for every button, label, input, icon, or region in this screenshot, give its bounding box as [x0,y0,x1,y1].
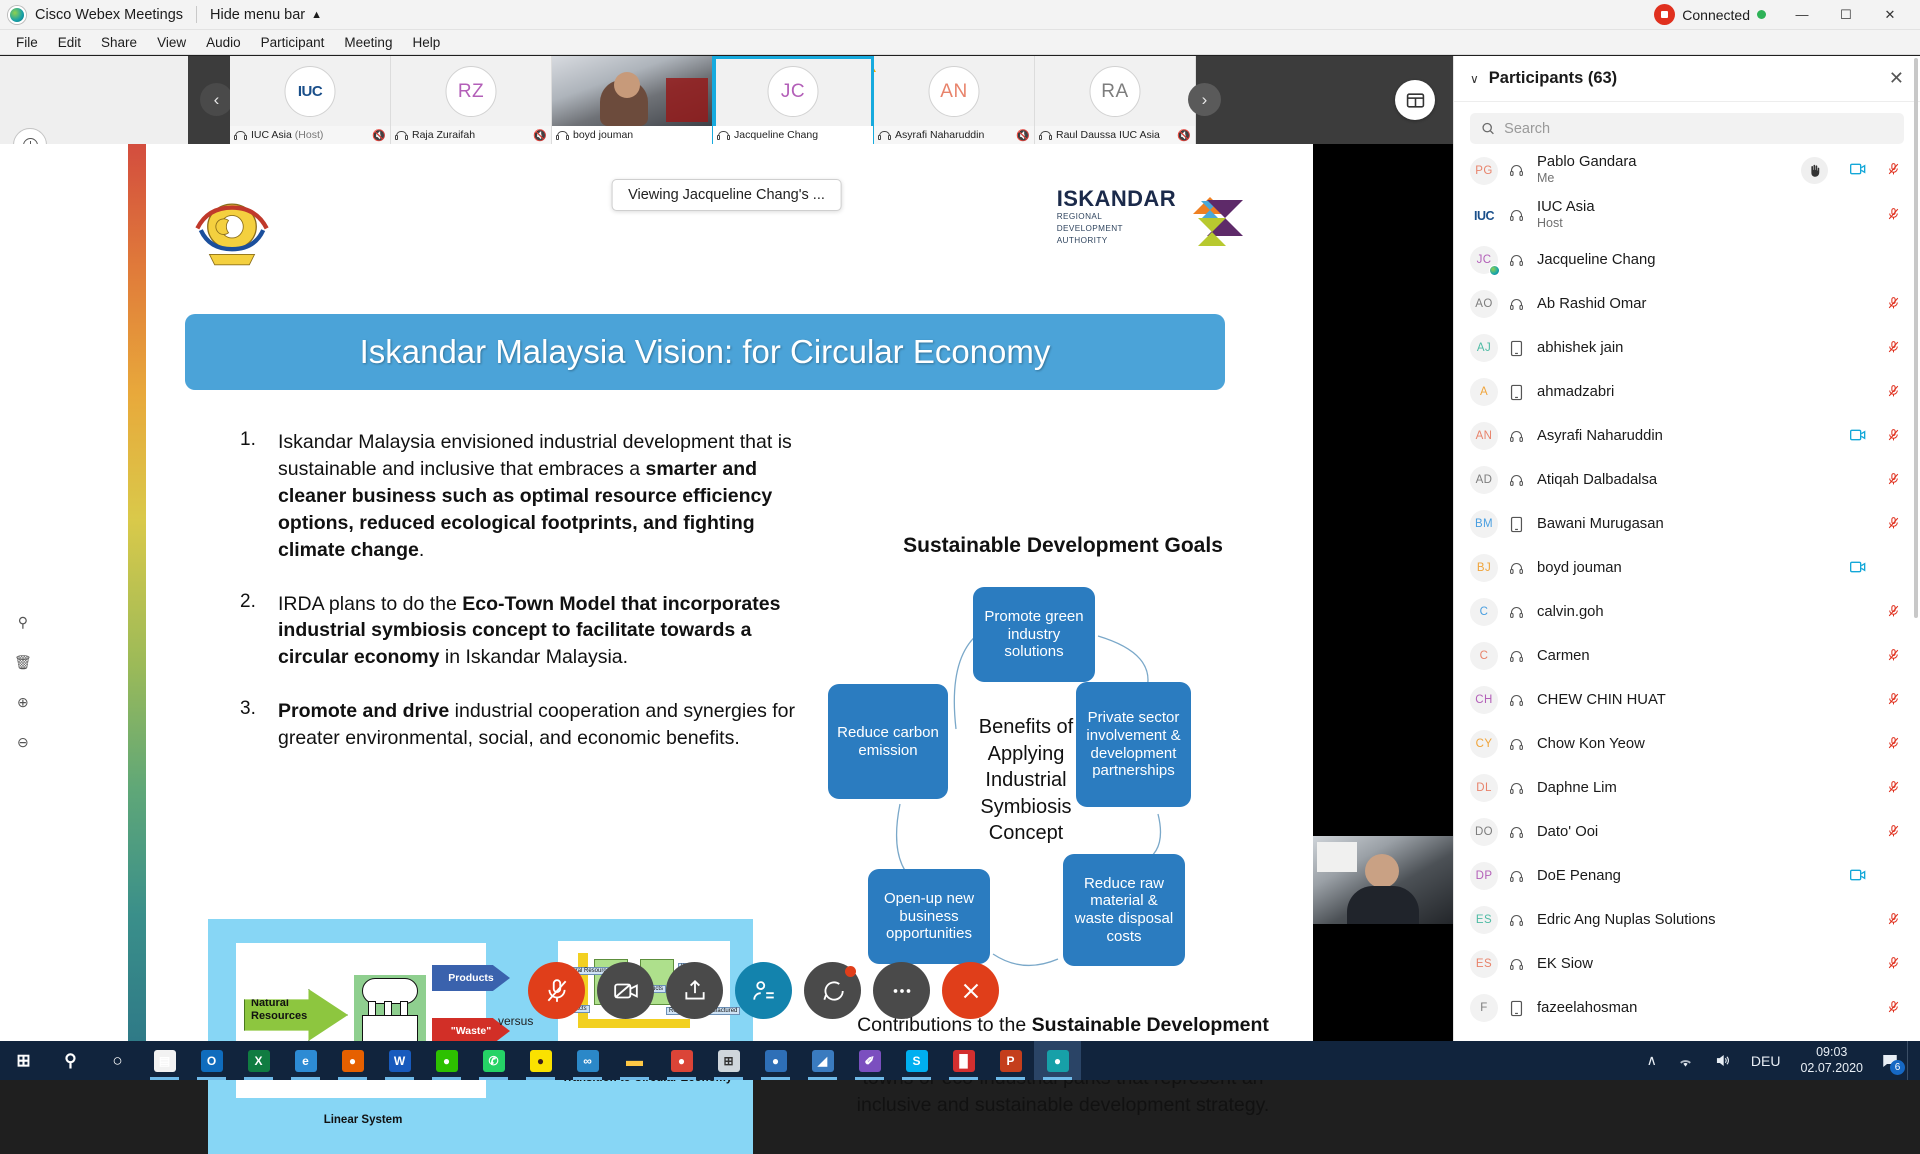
leave-button[interactable] [942,962,999,1019]
mic-muted-icon [1887,471,1900,490]
bullet-item-2: 2. IRDA plans to do the Eco-Town Model t… [240,591,800,672]
participant-row[interactable]: BMBawani Murugasan [1454,502,1920,546]
volume-icon[interactable] [1704,1053,1741,1068]
mic-muted-icon [1887,735,1900,754]
participant-actions [1850,339,1900,358]
firefox-icon: ● [342,1050,364,1072]
chevron-down-icon[interactable]: ∨ [1470,72,1479,86]
video-tile-jacqueline-chang[interactable]: JC Jacqueline Chang [713,56,874,144]
mic-muted-icon [1887,383,1900,402]
mic-muted-icon: 🔇 [1177,129,1191,142]
participant-row[interactable]: AJabhishek jain [1454,326,1920,370]
headset-icon [1503,163,1529,178]
participants-title: Participants (63) [1489,69,1879,88]
taskbar-pdf-reader[interactable]: █ [940,1041,987,1080]
participant-actions [1850,647,1900,666]
participant-name-block: DoE Penang [1537,868,1850,885]
participant-name-block: fazeelahosman [1537,1000,1850,1017]
headset-icon [1503,605,1529,620]
close-icon[interactable]: ✕ [1889,68,1904,89]
participants-search-box[interactable] [1470,113,1904,144]
camera-icon [1850,429,1865,444]
avatar: AN [1470,422,1498,450]
mic-muted-icon [1887,603,1900,622]
pointer-tool-icon[interactable]: ⚲ [18,614,28,631]
bullet-text: IRDA plans to do the Eco-Town Model that… [278,591,800,672]
participant-row[interactable]: DLDaphne Lim [1454,766,1920,810]
avatar: CY [1470,730,1498,758]
mute-button[interactable] [528,962,585,1019]
taskbar-whatsapp[interactable]: ✆ [470,1041,517,1080]
participant-name: EK Siow [1537,956,1850,973]
bullet-number: 3. [240,698,260,752]
connection-status: Connected [1682,7,1766,23]
headset-icon [1503,869,1529,884]
participant-name-block: ahmadzabri [1537,384,1850,401]
headset-icon [1503,297,1529,312]
taskbar-word[interactable]: W [376,1041,423,1080]
taskbar-cortana[interactable]: ○ [94,1041,141,1080]
taskbar-edge[interactable]: e [282,1041,329,1080]
pdf-reader-icon: █ [953,1050,975,1072]
taskbar-firefox[interactable]: ● [329,1041,376,1080]
avatar: DL [1470,774,1498,802]
participant-name-block: Jacqueline Chang [1537,252,1850,269]
share-button[interactable] [666,962,723,1019]
taskbar-outlook[interactable]: O [188,1041,235,1080]
mic-muted-icon [1887,161,1900,180]
chat-bubble-icon [820,978,846,1004]
connected-label: Connected [1682,7,1750,23]
participant-name-block: Atiqah Dalbadalsa [1537,472,1850,489]
avatar: JC [768,66,819,117]
mic-muted-icon [1887,779,1900,798]
headset-icon [1503,913,1529,928]
bullet-text: Iskandar Malaysia envisioned industrial … [278,429,800,564]
ellipsis-icon [889,978,915,1004]
cortana-icon: ○ [107,1050,129,1072]
person-list-icon [751,978,777,1004]
video-tile-iuc-asia[interactable]: IUC IUC Asia (Host) 🔇 [230,56,391,144]
mic-muted-icon [1887,823,1900,842]
participant-name: Jacqueline Chang [1537,252,1850,269]
avatar: C [1470,598,1498,626]
circular-economy-image-panel: Natural Resources Products "Waste" Take … [208,919,753,1154]
taskbar-calculator[interactable]: ⊞ [705,1041,752,1080]
taskbar-start[interactable]: ⊞ [0,1041,47,1080]
slide-bullet-list: 1. Iskandar Malaysia envisioned industri… [240,429,800,779]
excel-icon: X [248,1050,270,1072]
avatar: RZ [446,66,497,117]
participant-actions [1850,427,1900,446]
participant-row[interactable]: PGPablo GandaraMe [1454,148,1920,193]
close-button[interactable]: ✕ [1868,0,1912,29]
slide-title: Iskandar Malaysia Vision: for Circular E… [360,333,1051,371]
wifi-icon[interactable] [1667,1054,1704,1068]
taskbar-chrome[interactable]: ● [658,1041,705,1080]
hide-menu-bar-label: Hide menu bar [210,7,305,23]
raise-hand-icon[interactable] [1801,157,1828,184]
bullet-number: 2. [240,591,260,672]
paint-icon: ✐ [859,1050,881,1072]
participant-actions [1850,561,1900,576]
participant-row[interactable]: Aahmadzabri [1454,370,1920,414]
mic-muted-icon [1887,295,1900,314]
sdg-heading: Sustainable Development Goals [828,534,1298,558]
taskbar-microsoft-store[interactable]: ▤ [141,1041,188,1080]
participant-name-block: Edric Ang Nuplas Solutions [1537,912,1850,929]
iskandar-sub2: DEVELOPMENT [1057,224,1176,234]
participant-name-block: Daphne Lim [1537,780,1850,797]
avatar: IUC [1470,202,1498,230]
mic-muted-icon [544,978,570,1004]
iskandar-diamond-icon [1183,186,1245,248]
headset-icon [878,130,891,141]
bullet-text: Promote and drive industrial cooperation… [278,698,800,752]
headset-icon [1503,561,1529,576]
avatar: AN [929,66,980,117]
participant-row[interactable]: ANAsyrafi Naharuddin [1454,414,1920,458]
participant-row[interactable]: ADAtiqah Dalbadalsa [1454,458,1920,502]
clock-date: 02.07.2020 [1800,1061,1863,1076]
annotation-tools: ⚲ 🗑 ⊕ ⊖ [14,614,32,751]
avatar: JC [1470,246,1498,274]
webex-logo-icon [8,6,26,24]
avatar: F [1470,994,1498,1022]
participant-actions [1850,735,1900,754]
headset-icon [1503,957,1529,972]
taskbar-paint[interactable]: ✐ [846,1041,893,1080]
self-video-pip[interactable] [1313,836,1453,924]
participants-panel: ∨ Participants (63) ✕ PGPablo GandaraMeI… [1453,56,1920,1041]
notification-count: 6 [1890,1060,1905,1075]
camera-icon [1850,163,1865,178]
menu-share[interactable]: Share [91,33,147,52]
bullet-item-1: 1. Iskandar Malaysia envisioned industri… [240,429,800,564]
avatar: AJ [1470,334,1498,362]
taskbar-excel[interactable]: X [235,1041,282,1080]
participant-row[interactable]: JCJacqueline Chang [1454,238,1920,282]
maximize-button[interactable]: ☐ [1824,0,1868,29]
more-button[interactable] [873,962,930,1019]
mic-muted-icon [1887,999,1900,1018]
participant-name: Pablo Gandara [1537,154,1801,171]
participant-role: Host [1537,216,1850,232]
chat-unread-badge [845,966,856,977]
mic-muted-icon [1887,911,1900,930]
adobe-reader-icon: ◢ [812,1050,834,1072]
avatar: RA [1090,66,1141,117]
participant-row[interactable]: BJboyd jouman [1454,546,1920,590]
iskandar-name: ISKANDAR [1057,188,1176,210]
taskbar-file-explorer[interactable]: ▬ [611,1041,658,1080]
layout-button[interactable] [1395,80,1435,120]
taskbar-webex-teams[interactable]: ∞ [564,1041,611,1080]
participant-actions [1850,823,1900,842]
participant-name: ahmadzabri [1537,384,1850,401]
menu-audio[interactable]: Audio [196,33,251,52]
participant-row[interactable]: Ffazeelahosman [1454,986,1920,1030]
headset-icon [1039,130,1052,141]
notification-center-button[interactable]: 6 [1873,1041,1907,1080]
slide-title-bar: Iskandar Malaysia Vision: for Circular E… [185,314,1225,390]
participant-name: CHEW CHIN HUAT [1537,692,1850,709]
participant-row[interactable]: DODato' Ooi [1454,810,1920,854]
products-arrow: Products [432,965,510,991]
taskbar-skype[interactable]: S [893,1041,940,1080]
mic-muted-icon [1887,647,1900,666]
participant-name: calvin.goh [1537,604,1850,621]
participant-name: Bawani Murugasan [1537,516,1850,533]
outlook-icon: O [201,1050,223,1072]
avatar: AD [1470,466,1498,494]
participant-actions [1850,206,1900,225]
tile-name: Raul Daussa IUC Asia [1056,129,1173,141]
webex-meetings-icon: ● [1047,1050,1069,1072]
participant-actions [1850,911,1900,930]
cycle-node-reduce-carbon: Reduce carbon emission [828,684,948,799]
zoom-out-icon[interactable]: ⊖ [17,734,29,751]
participant-actions [1850,295,1900,314]
trash-tool-icon[interactable]: 🗑 [14,654,32,671]
participant-row[interactable]: Ccalvin.goh [1454,590,1920,634]
participant-row[interactable]: ESEK Siow [1454,942,1920,986]
clock[interactable]: 09:03 02.07.2020 [1790,1045,1873,1076]
mobile-icon [1503,1000,1529,1017]
shared-content-stage: ⚲ 🗑 ⊕ ⊖ Viewing Jacqueline Chang's ... I… [0,144,1453,1041]
search-icon [1481,121,1495,136]
mobile-icon [1503,516,1529,533]
kakaotalk-icon: ● [530,1050,552,1072]
mic-muted-icon [1887,339,1900,358]
participant-name: Daphne Lim [1537,780,1850,797]
participant-name-block: Pablo GandaraMe [1537,154,1801,187]
menu-edit[interactable]: Edit [48,33,91,52]
layout-grid-icon [1406,91,1425,110]
word-icon: W [389,1050,411,1072]
tray-chevron-icon[interactable]: ∧ [1637,1052,1667,1069]
taskbar-powerpoint[interactable]: P [987,1041,1034,1080]
camera-icon [1850,561,1865,576]
webex-teams-icon: ∞ [577,1050,599,1072]
chevron-up-icon: ▲ [311,9,322,21]
participant-name: IUC Asia [1537,199,1850,216]
headset-icon [1503,781,1529,796]
participant-actions [1850,471,1900,490]
camera-off-icon [613,978,639,1004]
avatar: CH [1470,686,1498,714]
taskbar-search[interactable]: ⚲ [47,1041,94,1080]
taskbar-webex-meetings[interactable]: ● [1034,1041,1081,1080]
natural-resources-label: Natural Resources [251,997,347,1022]
linear-system-label: Linear System [238,1114,488,1126]
participant-name: Atiqah Dalbadalsa [1537,472,1850,489]
skype-icon: S [906,1050,928,1072]
menu-participant[interactable]: Participant [251,33,335,52]
menu-meeting[interactable]: Meeting [334,33,402,52]
filmstrip-prev-button[interactable]: ‹ [200,83,233,116]
video-button[interactable] [597,962,654,1019]
filmstrip-next-button[interactable]: › [1188,83,1221,116]
mic-muted-icon [1887,515,1900,534]
video-tile-raja-zuraifah[interactable]: RZ Raja Zuraifah 🔇 [391,56,552,144]
viewing-banner: Viewing Jacqueline Chang's ... [611,179,842,211]
participant-row[interactable]: DPDoE Penang [1454,854,1920,898]
whatsapp-icon: ✆ [483,1050,505,1072]
participant-actions [1850,955,1900,974]
participant-row[interactable]: ESEdric Ang Nuplas Solutions [1454,898,1920,942]
menu-bar: File Edit Share View Audio Participant M… [0,30,1920,55]
avatar: DP [1470,862,1498,890]
slide-color-strip [128,144,146,1041]
app-blue-icon: ● [765,1050,787,1072]
mic-muted-icon [1887,206,1900,225]
participant-actions [1850,691,1900,710]
participants-scrollbar[interactable] [1914,58,1918,618]
avatar: IUC [285,66,336,117]
symbiosis-cycle-diagram: Promote green industry solutions Private… [828,564,1298,994]
participant-name-block: Ab Rashid Omar [1537,296,1850,313]
microsoft-store-icon: ▤ [154,1050,176,1072]
headset-icon [1503,429,1529,444]
participants-header: ∨ Participants (63) ✕ [1454,56,1920,102]
divider [196,6,197,23]
zoom-in-icon[interactable]: ⊕ [17,694,29,711]
participants-list[interactable]: PGPablo GandaraMeIUCIUC AsiaHostJCJacque… [1454,148,1920,1041]
video-tile-boyd-jouman[interactable]: boyd jouman [552,56,713,144]
mic-muted-icon: 🔇 [533,129,547,142]
taskbar-app-blue[interactable]: ● [752,1041,799,1080]
presentation-slide: ISKANDAR REGIONAL DEVELOPMENT AUTHORITY … [128,144,1313,1041]
show-desktop-button[interactable] [1907,1041,1914,1080]
wifi-glyph [1677,1054,1694,1068]
participant-name: abhishek jain [1537,340,1850,357]
participant-row[interactable]: CCarmen [1454,634,1920,678]
participant-name: boyd jouman [1537,560,1850,577]
avatar: AO [1470,290,1498,318]
taskbar-wechat[interactable]: ● [423,1041,470,1080]
headset-icon [1503,253,1529,268]
participant-row[interactable]: CHCHEW CHIN HUAT [1454,678,1920,722]
chrome-icon: ● [671,1050,693,1072]
filmstrip-tiles: IUC IUC Asia (Host) 🔇 RZ Raja Zuraifah 🔇 [230,56,1196,144]
mobile-icon [1503,384,1529,401]
close-x-icon [958,978,984,1004]
calculator-icon: ⊞ [718,1050,740,1072]
participant-name: fazeelahosman [1537,1000,1850,1017]
participant-name-block: Carmen [1537,648,1850,665]
headset-icon [1503,649,1529,664]
powerpoint-icon: P [1000,1050,1022,1072]
participant-actions [1850,515,1900,534]
clock-time: 09:03 [1800,1045,1863,1060]
avatar: BJ [1470,554,1498,582]
headset-icon [395,130,408,141]
headset-icon [1503,693,1529,708]
participant-name: DoE Penang [1537,868,1850,885]
windows-taskbar: ⊞⚲○▤OXe●W●✆●∞▬●⊞●◢✐S█P● ∧ DEU 09:03 02.0… [0,1041,1920,1080]
video-tile-asyrafi-naharuddin[interactable]: AN Asyrafi Naharuddin 🔇 [874,56,1035,144]
avatar: ES [1470,950,1498,978]
edge-icon: e [295,1050,317,1072]
hide-menu-bar-button[interactable]: Hide menu bar ▲ [210,7,322,23]
connection-dot-icon [1757,10,1766,19]
participant-actions [1801,157,1900,184]
recording-indicator-icon[interactable] [1654,4,1675,25]
participant-row[interactable]: CYChow Kon Yeow [1454,722,1920,766]
participant-name-block: Chow Kon Yeow [1537,736,1850,753]
language-indicator[interactable]: DEU [1741,1053,1791,1069]
mobile-icon [1503,340,1529,357]
video-tile-raul-daussa[interactable]: RA Raul Daussa IUC Asia 🔇 [1035,56,1196,144]
participant-name: Chow Kon Yeow [1537,736,1850,753]
participants-button[interactable] [735,962,792,1019]
participant-name: Edric Ang Nuplas Solutions [1537,912,1850,929]
avatar: DO [1470,818,1498,846]
headset-icon [1503,473,1529,488]
participant-actions [1850,869,1900,884]
participant-name-block: Asyrafi Naharuddin [1537,428,1850,445]
participant-name-block: Bawani Murugasan [1537,516,1850,533]
headset-icon [1503,208,1529,223]
window-title-bar: Cisco Webex Meetings Hide menu bar ▲ Con… [0,0,1920,30]
menu-file[interactable]: File [6,33,48,52]
headset-icon [1503,825,1529,840]
taskbar-kakaotalk[interactable]: ● [517,1041,564,1080]
participant-name-block: Dato' Ooi [1537,824,1850,841]
tile-name: IUC Asia (Host) [251,129,368,141]
participant-row[interactable]: IUCIUC AsiaHost [1454,193,1920,238]
avatar: ES [1470,906,1498,934]
cycle-center-label: Benefits of Applying Industrial Symbiosi… [956,714,1096,847]
participant-name-block: IUC AsiaHost [1537,199,1850,232]
participant-name: Ab Rashid Omar [1537,296,1850,313]
malaysia-crest-icon [188,192,276,270]
cycle-node-open-up-business: Open-up new business opportunities [868,869,990,964]
minimize-button[interactable]: — [1780,0,1824,29]
video-feed [552,56,712,126]
participant-row[interactable]: AOAb Rashid Omar [1454,282,1920,326]
headset-sharing-icon [717,130,730,141]
participant-actions [1850,999,1900,1018]
mic-muted-icon: 🔇 [372,129,386,142]
headset-icon [1503,737,1529,752]
system-tray: ∧ DEU 09:03 02.07.2020 6 [1637,1041,1920,1080]
mic-muted-icon [1887,691,1900,710]
menu-view[interactable]: View [147,33,196,52]
file-explorer-icon: ▬ [624,1050,646,1072]
share-up-icon [682,978,708,1004]
menu-help[interactable]: Help [402,33,450,52]
mic-muted-icon: 🔇 [1016,129,1030,142]
participant-name: Carmen [1537,648,1850,665]
participant-actions [1850,779,1900,798]
cycle-node-promote-green: Promote green industry solutions [973,587,1095,682]
search-input[interactable] [1504,121,1893,137]
video-filmstrip: ‹ IUC IUC Asia (Host) 🔇 RZ Raja Zuraifah… [0,56,1453,144]
participant-name: Asyrafi Naharuddin [1537,428,1850,445]
search-icon: ⚲ [60,1050,82,1072]
taskbar-adobe-reader[interactable]: ◢ [799,1041,846,1080]
cycle-node-reduce-raw-material: Reduce raw material & waste disposal cos… [1063,854,1185,966]
annotation-sidebar: ⚲ 🗑 ⊕ ⊖ [0,144,128,1041]
participant-actions [1850,383,1900,402]
participant-actions [1850,603,1900,622]
mic-muted-icon [1887,427,1900,446]
avatar: C [1470,642,1498,670]
chat-button[interactable] [804,962,861,1019]
avatar: PG [1470,157,1498,185]
